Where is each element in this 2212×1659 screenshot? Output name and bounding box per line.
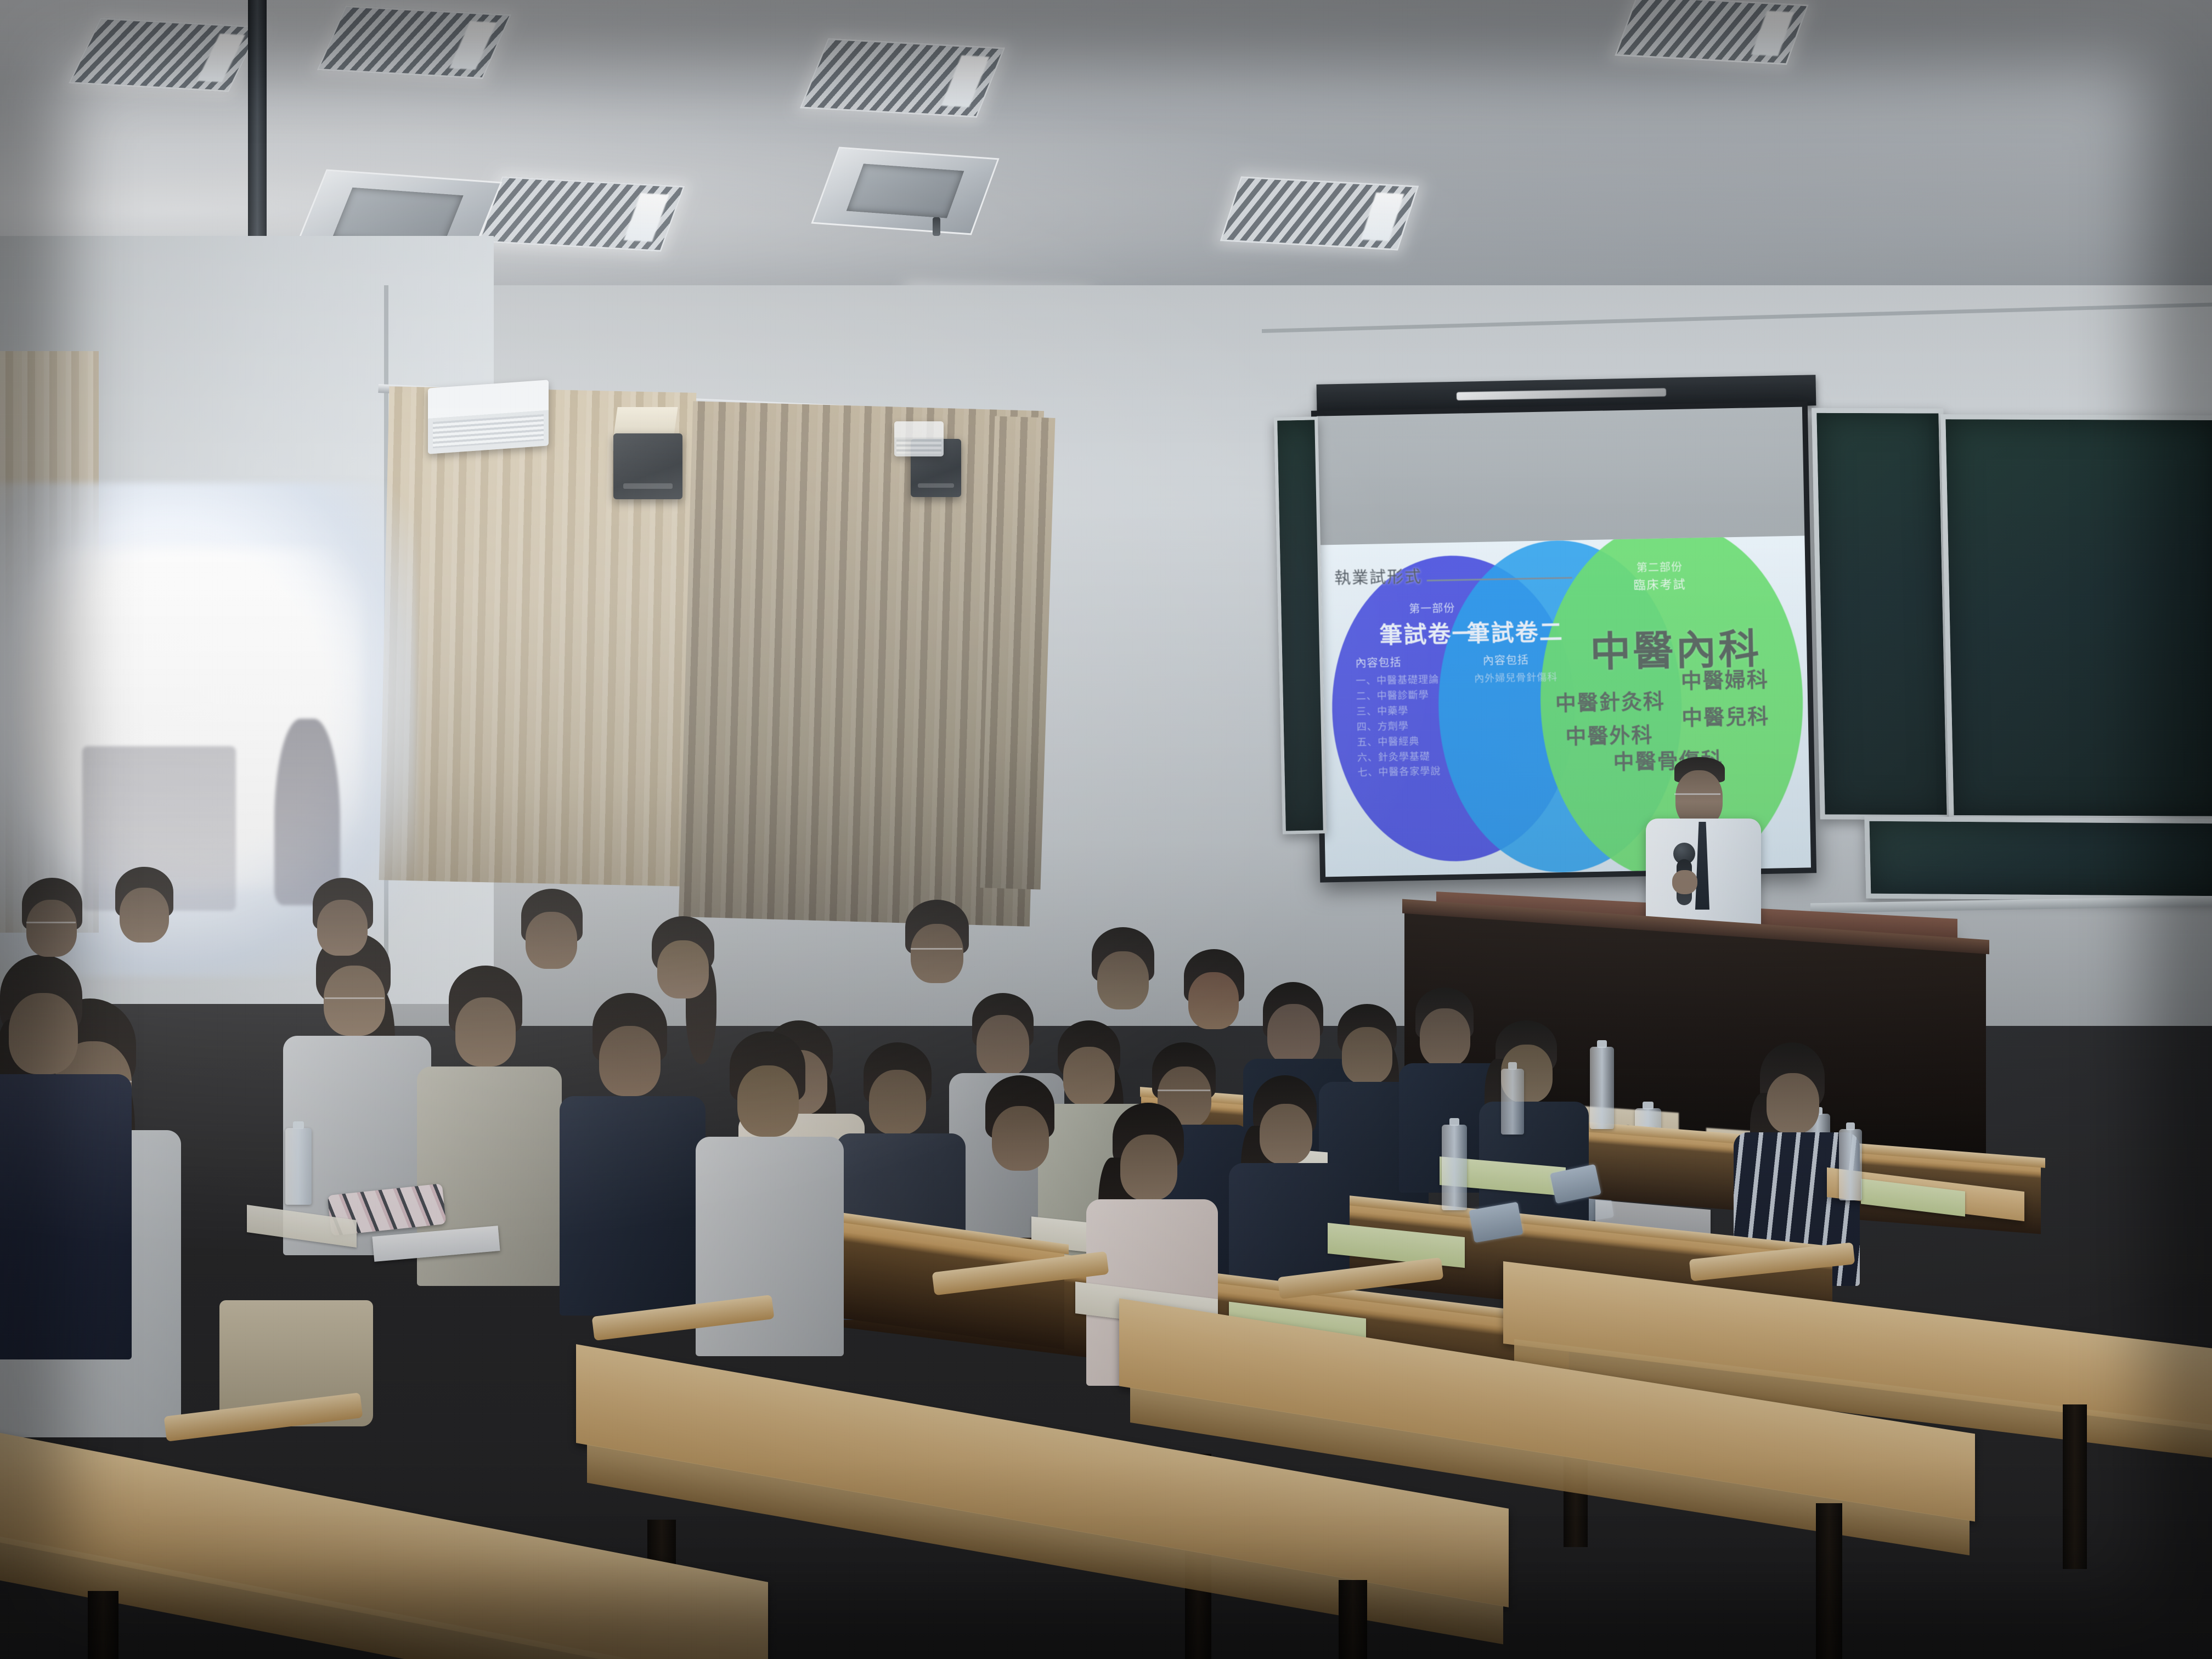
person-head [1420,1008,1470,1066]
person-head [869,1070,926,1135]
presenter [1640,757,1805,938]
blackboard-right [1940,414,2212,821]
desk-leg [1339,1580,1367,1659]
projector-mount-pole [248,0,267,252]
slide-c1-item-list: 一、中醫基礎理論 二、中醫診斷學 三、中藥學 四、方劑學 五、中醫經典 六、針灸… [1356,671,1498,781]
ceiling-light-fixture [317,5,511,79]
air-conditioner-unit [894,421,944,456]
person-head [9,993,78,1074]
lecture-hall-photo: 執業試形式 第一部份 筆試卷一 內容包括 一、中醫基礎理論 二、中醫診斷學 三、… [0,0,2212,1659]
person-head [1188,972,1239,1029]
ceiling-light-fixture [800,38,1006,117]
ceiling-light-fixture [69,18,261,92]
slide-c1-item: 七、中醫各家學說 [1357,763,1498,781]
sprinkler-head [933,217,940,236]
blackboard-left-edge [1274,416,1327,834]
air-conditioner-unit [428,380,549,454]
person-head [526,912,577,969]
person-head [1120,1135,1177,1200]
water-bottle [1590,1047,1614,1129]
ceiling-light-fixture [478,176,685,252]
person-head [1267,1004,1320,1064]
person-head [1767,1073,1819,1133]
desk-leg [2063,1404,2087,1569]
screen-housing-highlight [1457,388,1666,400]
person-head [120,888,169,943]
person-head [1097,951,1149,1009]
person-head [26,900,77,957]
person-torso [560,1096,706,1316]
person-head [1063,1047,1115,1106]
person-head [657,940,709,998]
slide-c3-item: 中醫針灸科 [1555,685,1662,717]
desk-leg [88,1591,119,1659]
blackboard-center [1812,408,1952,820]
slide-c3-item: 中醫兒科 [1672,699,1779,731]
slide-c2-heading: 筆試卷二 [1462,613,1569,649]
slide-c3-item: 中醫婦科 [1671,663,1779,695]
person-head [455,997,516,1066]
person-head [977,1015,1029,1076]
slide-c1-part-label: 第一部份 [1379,599,1486,617]
ceiling-light-fixture [1615,0,1809,65]
slide-title: 執業試形式 [1334,563,1423,589]
person-glasses-icon [26,922,76,924]
person-head [599,1026,661,1096]
slide-c3-part-label: 第二部份 [1611,557,1708,575]
slide-c1-sub-label: 內容包括 [1355,652,1453,670]
wall-speaker [613,433,682,499]
ac-ceiling-diffuser [811,147,999,235]
person-head [1260,1104,1312,1164]
slide-c3-heading: 臨床考試 [1606,574,1713,594]
presenter-hand [1672,870,1697,894]
person-glasses-icon [325,997,384,1000]
person-torso [0,1074,132,1359]
person-head [992,1106,1049,1171]
person-head [737,1065,799,1137]
presenter-glasses-icon [1674,793,1720,801]
blackboard-far-right [1864,816,2212,901]
person-head [1342,1027,1392,1084]
person-glasses-icon [1158,1090,1210,1092]
water-bottle [1501,1069,1524,1135]
window-silhouette [274,719,340,905]
person-head [911,924,963,983]
person-head [324,966,385,1036]
slide-c2-sub-label: 內容包括 [1462,650,1550,668]
slide-c2-item: 內外婦兒骨針傷科 [1453,670,1579,687]
water-bottle [1442,1125,1467,1210]
ceiling-light-fixture [1220,176,1419,250]
person-head [317,900,368,956]
person-glasses-icon [911,948,962,950]
water-bottle [1839,1129,1862,1200]
desk-leg [1816,1503,1842,1659]
water-bottle [285,1128,312,1205]
